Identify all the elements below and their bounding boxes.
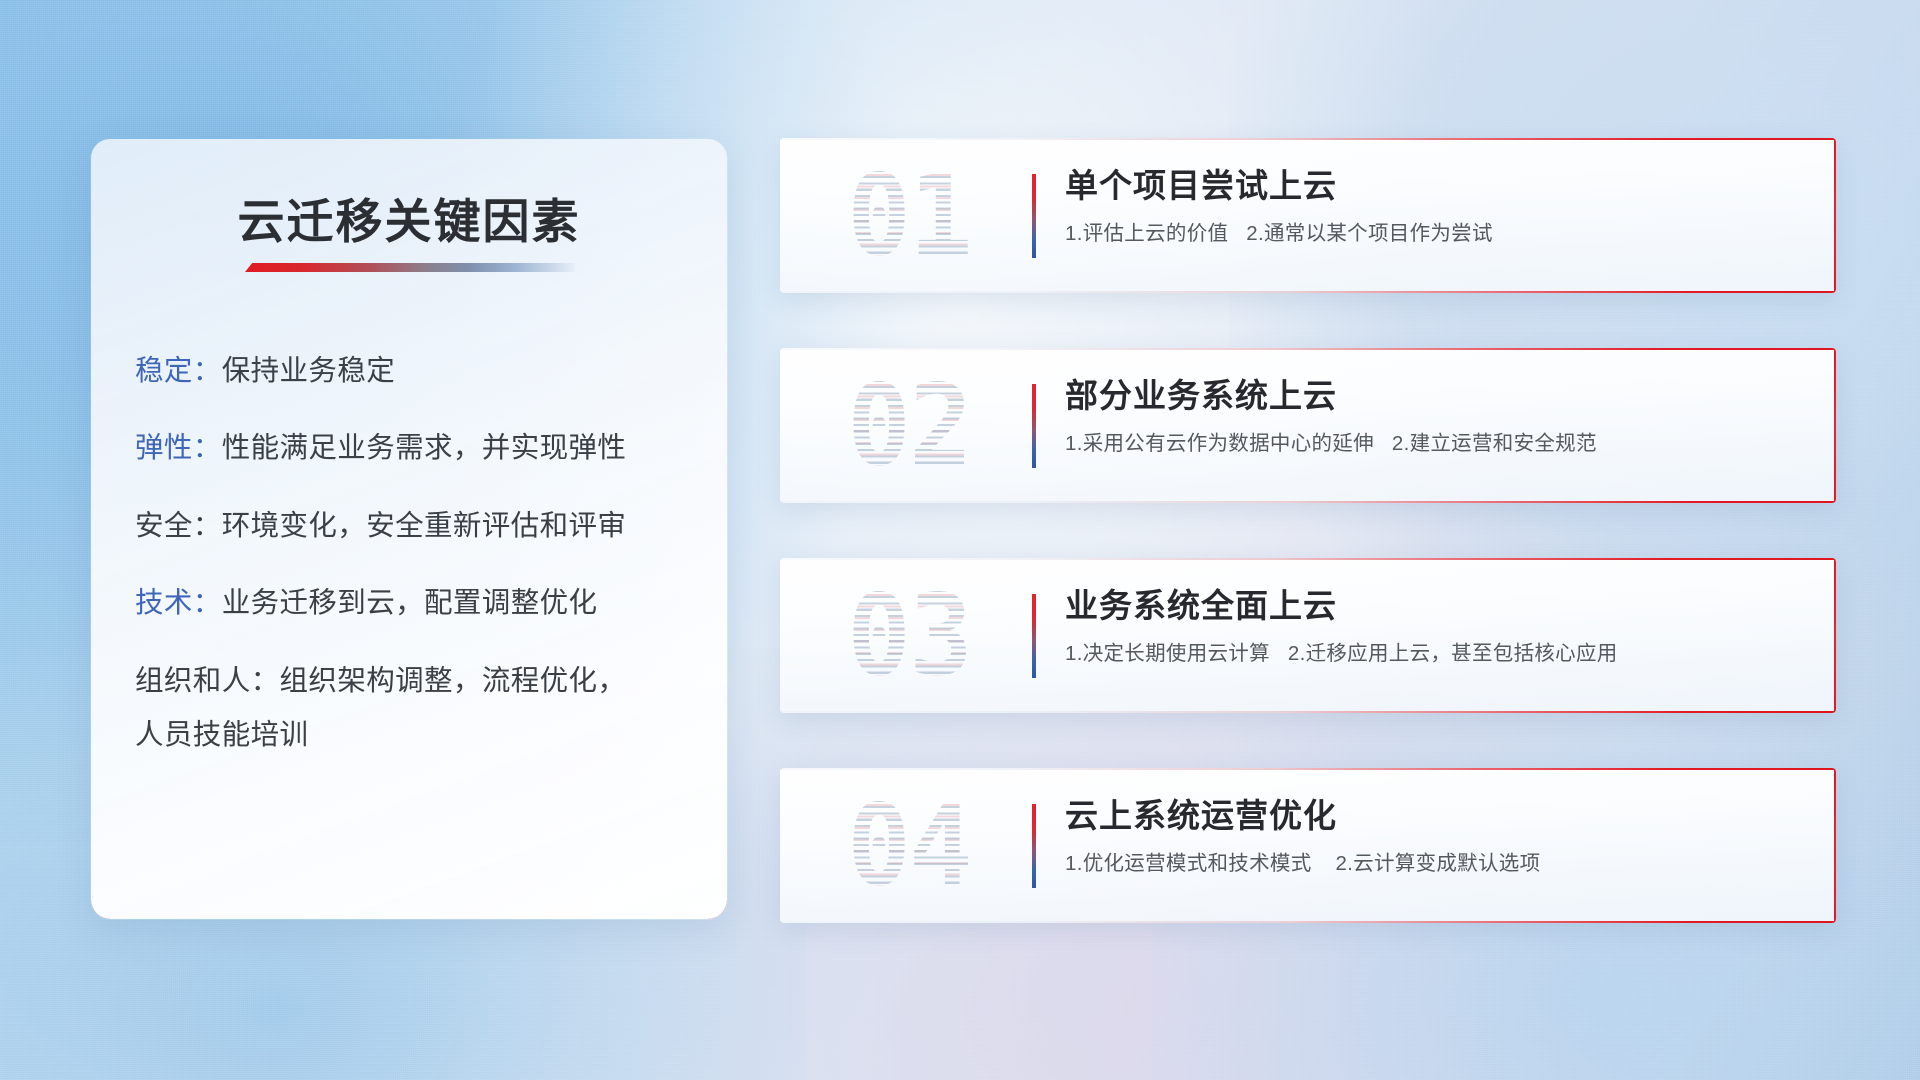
- step-text-block: 云上系统运营优化 1.优化运营模式和技术模式 2.云计算变成默认选项: [1065, 796, 1796, 878]
- step-subtitle: 1.评估上云的价值 2.通常以某个项目作为尝试: [1065, 221, 1796, 248]
- factor-key: 弹性：: [135, 432, 222, 464]
- title-underline-rule: [245, 263, 575, 272]
- factor-value: 性能满足业务需求，并实现弹性: [222, 432, 627, 464]
- step-number-tint: 03: [847, 570, 971, 699]
- factor-row: 组织和人：组织架构调整，流程优化，: [135, 663, 701, 699]
- step-number-tint: 02: [847, 360, 971, 489]
- step-accent-bar: [1032, 174, 1036, 258]
- page-title: 云迁移关键因素: [91, 183, 727, 252]
- migration-steps-list: 01 01 单个项目尝试上云 1.评估上云的价值 2.通常以某个项目作为尝试 0…: [780, 138, 1836, 923]
- step-title: 业务系统全面上云: [1065, 586, 1796, 626]
- step-card[interactable]: 03 03 业务系统全面上云 1.决定长期使用云计算 2.迁移应用上云，甚至包括…: [780, 558, 1836, 713]
- step-text-block: 单个项目尝试上云 1.评估上云的价值 2.通常以某个项目作为尝试: [1065, 166, 1796, 248]
- step-number-glyph: 02: [847, 360, 971, 489]
- step-card[interactable]: 02 02 部分业务系统上云 1.采用公有云作为数据中心的延伸 2.建立运营和安…: [780, 348, 1836, 503]
- step-number-watermark: 03 03: [814, 572, 1004, 698]
- factor-value: 业务迁移到云，配置调整优化: [222, 587, 598, 619]
- step-accent-bar: [1032, 804, 1036, 888]
- step-text-block: 部分业务系统上云 1.采用公有云作为数据中心的延伸 2.建立运营和安全规范: [1065, 376, 1796, 458]
- step-number-tint: 01: [847, 150, 971, 279]
- factor-key: 稳定：: [135, 355, 222, 387]
- key-factors-panel: 云迁移关键因素 稳定：保持业务稳定 弹性：性能满足业务需求，并实现弹性 安全：环…: [90, 138, 728, 920]
- slide-stage: 云迁移关键因素 稳定：保持业务稳定 弹性：性能满足业务需求，并实现弹性 安全：环…: [0, 0, 1920, 1080]
- factor-value: 保持业务稳定: [222, 355, 395, 387]
- factor-value: 环境变化，安全重新评估和评审: [222, 510, 627, 542]
- step-accent-bar: [1032, 384, 1036, 468]
- step-card[interactable]: 01 01 单个项目尝试上云 1.评估上云的价值 2.通常以某个项目作为尝试: [780, 138, 1836, 293]
- factor-row: 技术：业务迁移到云，配置调整优化: [135, 585, 701, 621]
- factor-row: 安全：环境变化，安全重新评估和评审: [135, 508, 701, 544]
- step-number-tint: 04: [847, 780, 971, 909]
- step-title: 部分业务系统上云: [1065, 376, 1796, 416]
- step-card[interactable]: 04 04 云上系统运营优化 1.优化运营模式和技术模式 2.云计算变成默认选项: [780, 768, 1836, 923]
- step-number-glyph: 04: [847, 780, 971, 909]
- step-number-glyph: 01: [847, 150, 971, 279]
- step-text-block: 业务系统全面上云 1.决定长期使用云计算 2.迁移应用上云，甚至包括核心应用: [1065, 586, 1796, 668]
- factor-key: 安全：: [135, 510, 222, 542]
- factor-key: 技术：: [135, 587, 222, 619]
- step-accent-bar: [1032, 594, 1036, 678]
- factor-row: 稳定：保持业务稳定: [135, 353, 701, 389]
- step-number-watermark: 01 01: [814, 152, 1004, 278]
- step-title: 单个项目尝试上云: [1065, 166, 1796, 206]
- card-right-edge: [1834, 348, 1836, 503]
- factor-value: 人员技能培训: [135, 719, 308, 751]
- factor-list: 稳定：保持业务稳定 弹性：性能满足业务需求，并实现弹性 安全：环境变化，安全重新…: [135, 353, 701, 754]
- step-title: 云上系统运营优化: [1065, 796, 1796, 836]
- card-right-edge: [1834, 558, 1836, 713]
- step-subtitle: 1.决定长期使用云计算 2.迁移应用上云，甚至包括核心应用: [1065, 641, 1796, 668]
- step-number-watermark: 02 02: [814, 362, 1004, 488]
- factor-row-continuation: 人员技能培训: [135, 717, 701, 753]
- step-number-watermark: 04 04: [814, 782, 1004, 908]
- factor-key: 组织和人：: [135, 665, 280, 697]
- step-subtitle: 1.采用公有云作为数据中心的延伸 2.建立运营和安全规范: [1065, 431, 1796, 458]
- card-right-edge: [1834, 768, 1836, 923]
- factor-value: 组织架构调整，流程优化，: [280, 665, 627, 697]
- factor-row: 弹性：性能满足业务需求，并实现弹性: [135, 430, 701, 466]
- step-number-glyph: 03: [847, 570, 971, 699]
- step-subtitle: 1.优化运营模式和技术模式 2.云计算变成默认选项: [1065, 851, 1796, 878]
- card-right-edge: [1834, 138, 1836, 293]
